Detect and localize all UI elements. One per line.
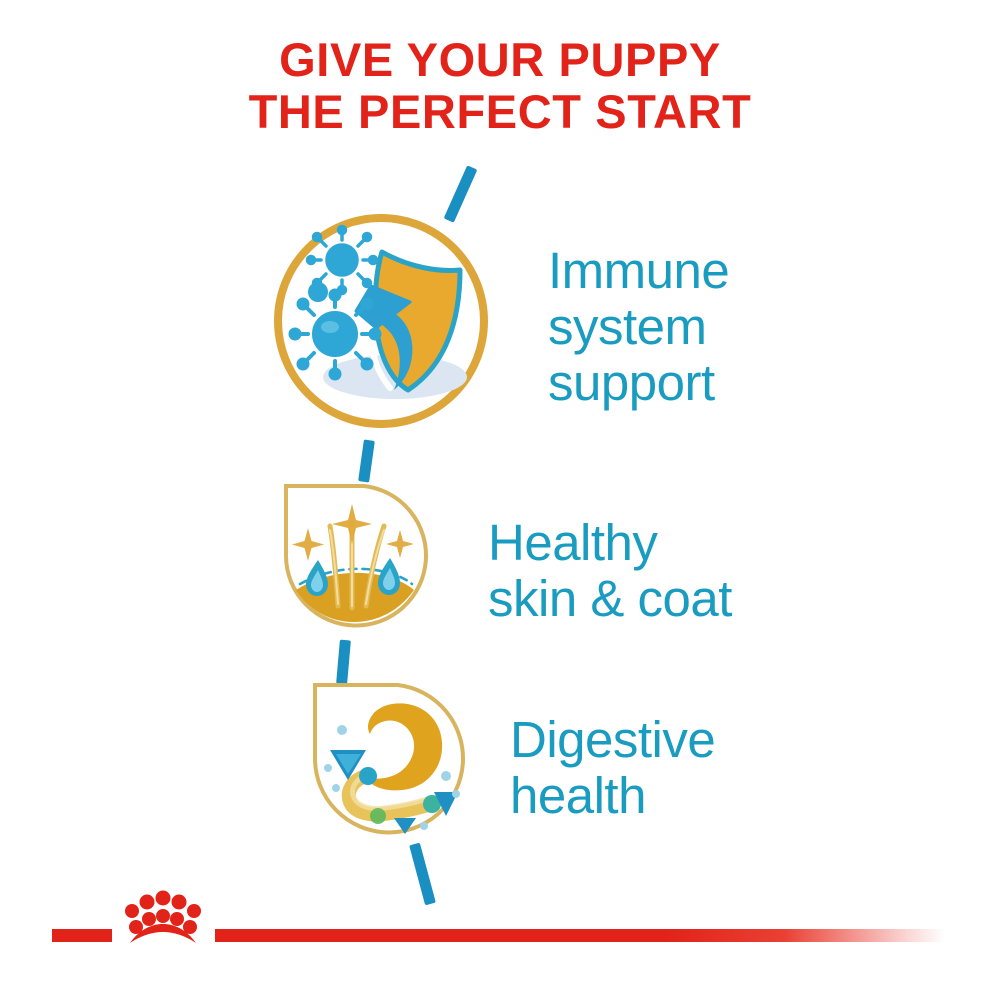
connector-dash-1-2: [358, 439, 375, 482]
stomach-digestive-health-icon: [306, 676, 468, 838]
brand-bar-left-segment: [52, 929, 112, 942]
title-line-2: THE PERFECT START: [0, 86, 1000, 138]
benefit-label-immune: Immune system support: [548, 243, 729, 411]
title-line-1: GIVE YOUR PUPPY: [0, 34, 1000, 86]
benefit-label-digestive: Digestive health: [510, 712, 715, 824]
shield-virus-immune-icon: [270, 210, 492, 432]
brand-footer-bar: [0, 924, 1000, 946]
royal-canin-crown-icon: [112, 889, 214, 955]
benefit-label-skin-coat: Healthy skin & coat: [488, 515, 732, 627]
brand-bar-right-segment: [215, 929, 945, 942]
hair-follicle-skin-coat-icon: [278, 478, 430, 630]
connector-dash-bottom: [409, 843, 436, 906]
page-title: GIVE YOUR PUPPY THE PERFECT START: [0, 34, 1000, 138]
promo-graphic: GIVE YOUR PUPPY THE PERFECT START: [0, 0, 1000, 1000]
